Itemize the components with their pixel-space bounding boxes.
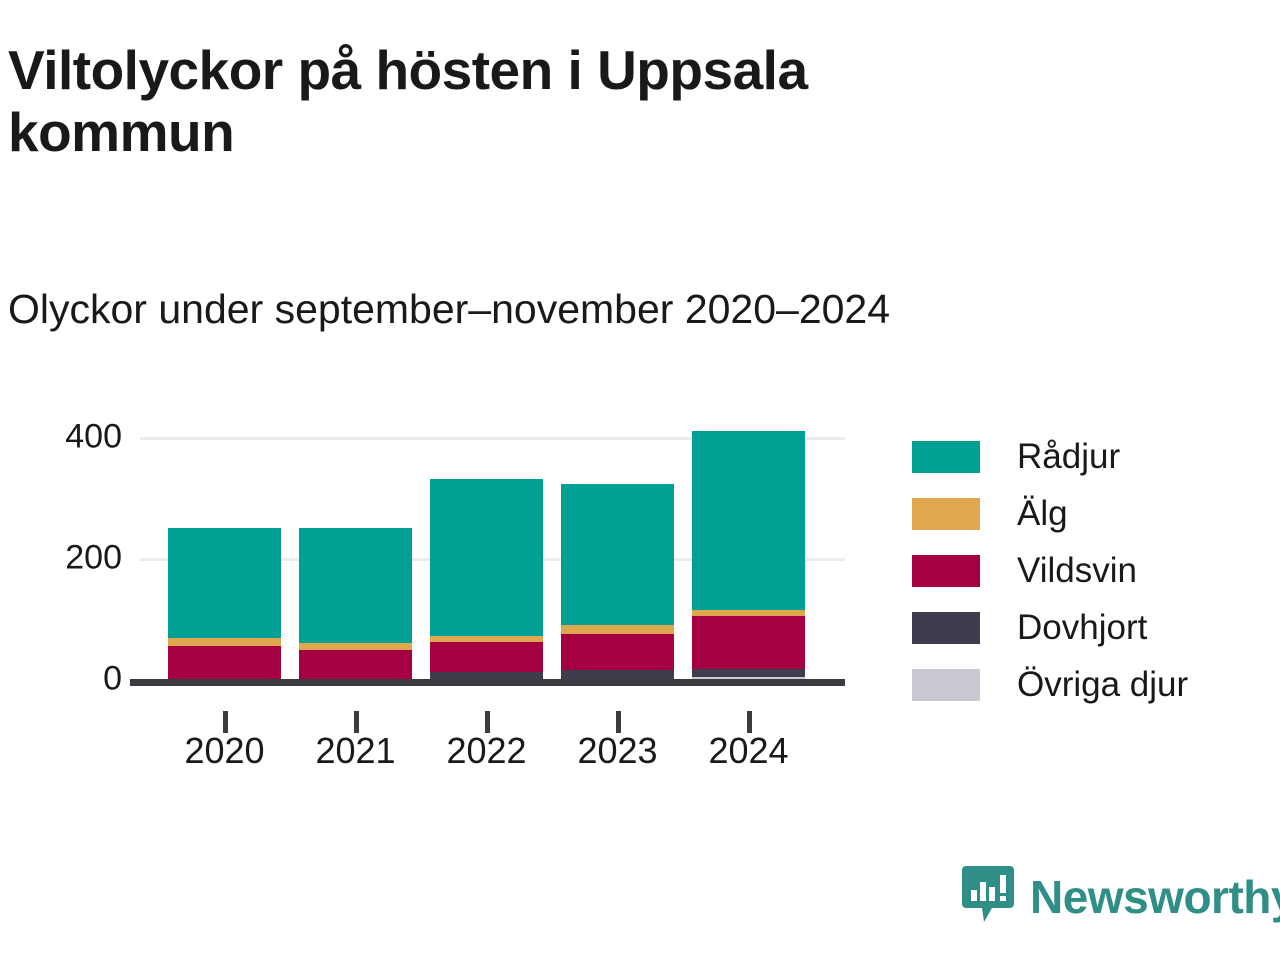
x-axis-baseline bbox=[130, 679, 845, 686]
bar-segment-2024-dovhjort[interactable] bbox=[692, 669, 805, 676]
bar-segment-2022-vildsvin[interactable] bbox=[430, 642, 543, 672]
legend-item-rådjur[interactable]: Rådjur bbox=[912, 428, 1272, 485]
bar-segment-2020-vildsvin[interactable] bbox=[168, 646, 281, 679]
legend-item-älg[interactable]: Älg bbox=[912, 485, 1272, 542]
plot-area: 20202021202220232024 bbox=[140, 425, 845, 679]
legend-swatch-icon bbox=[912, 441, 980, 473]
chart-page: Viltolyckor på hösten i Uppsala kommun O… bbox=[0, 0, 1280, 960]
legend-swatch-icon bbox=[912, 612, 980, 644]
page-subtitle: Olyckor under september–november 2020–20… bbox=[8, 287, 1108, 333]
bar-2022[interactable] bbox=[430, 479, 543, 679]
bar-2024[interactable] bbox=[692, 431, 805, 679]
legend-label: Vildsvin bbox=[1017, 551, 1137, 591]
bar-segment-2021-rådjur[interactable] bbox=[299, 528, 412, 644]
newsworthy-logo: Newsworthy bbox=[962, 866, 1280, 928]
bar-chart: 0200400 20202021202220232024 bbox=[0, 400, 900, 760]
x-tick-label-2024: 2024 bbox=[669, 730, 829, 772]
legend-item-dovhjort[interactable]: Dovhjort bbox=[912, 599, 1272, 656]
bar-segment-2020-älg[interactable] bbox=[168, 638, 281, 646]
y-axis: 0200400 bbox=[0, 425, 122, 679]
bar-segment-2024-vildsvin[interactable] bbox=[692, 616, 805, 669]
bar-segment-2024-rådjur[interactable] bbox=[692, 431, 805, 610]
legend-label: Övriga djur bbox=[1017, 665, 1188, 705]
legend-swatch-icon bbox=[912, 498, 980, 530]
newsworthy-bar-chart-speech-bubble-icon bbox=[962, 866, 1014, 928]
legend-label: Älg bbox=[1017, 494, 1068, 534]
y-tick-label-200: 200 bbox=[12, 539, 122, 578]
legend-swatch-icon bbox=[912, 555, 980, 587]
bar-segment-2022-dovhjort[interactable] bbox=[430, 672, 543, 679]
bar-segment-2020-rådjur[interactable] bbox=[168, 528, 281, 639]
y-tick-label-0: 0 bbox=[12, 660, 122, 699]
bar-segment-2023-dovhjort[interactable] bbox=[561, 670, 674, 679]
legend-item-vildsvin[interactable]: Vildsvin bbox=[912, 542, 1272, 599]
y-tick-label-400: 400 bbox=[12, 418, 122, 457]
legend-label: Rådjur bbox=[1017, 437, 1120, 477]
newsworthy-wordmark: Newsworthy bbox=[1030, 870, 1280, 924]
legend-swatch-icon bbox=[912, 669, 980, 701]
bar-segment-2023-rådjur[interactable] bbox=[561, 484, 674, 624]
bar-2023[interactable] bbox=[561, 484, 674, 679]
page-title: Viltolyckor på hösten i Uppsala kommun bbox=[8, 40, 1018, 163]
bar-2021[interactable] bbox=[299, 528, 412, 679]
legend: RådjurÄlgVildsvinDovhjortÖvriga djur bbox=[912, 428, 1272, 713]
bar-segment-2021-vildsvin[interactable] bbox=[299, 650, 412, 679]
bar-segment-2023-vildsvin[interactable] bbox=[561, 634, 674, 670]
legend-label: Dovhjort bbox=[1017, 608, 1147, 648]
bar-segment-2021-älg[interactable] bbox=[299, 643, 412, 650]
bar-2020[interactable] bbox=[168, 528, 281, 679]
bar-segment-2023-älg[interactable] bbox=[561, 625, 674, 635]
legend-item-övriga-djur[interactable]: Övriga djur bbox=[912, 656, 1272, 713]
bar-segment-2022-rådjur[interactable] bbox=[430, 479, 543, 636]
